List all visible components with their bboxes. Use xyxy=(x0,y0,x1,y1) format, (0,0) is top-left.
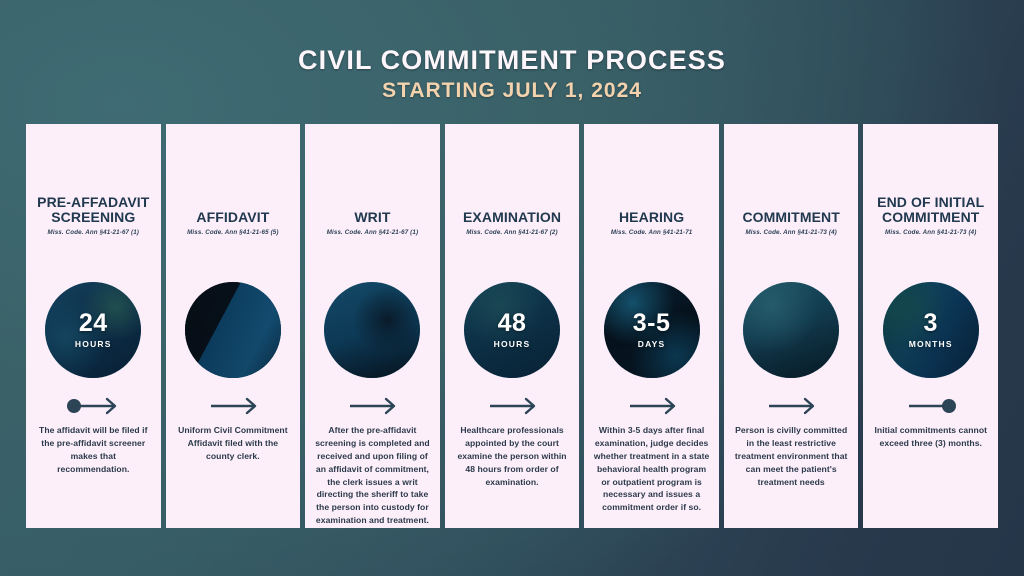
step-description-block: Person is civilly committed in the least… xyxy=(732,424,851,488)
step-heading-block: END OF INITIAL COMMITMENTMiss. Code. Ann… xyxy=(872,124,989,236)
step-description: Uniform Civil Commitment Affidavit filed… xyxy=(174,424,293,463)
process-step-card: END OF INITIAL COMMITMENTMiss. Code. Ann… xyxy=(863,124,998,528)
step-title: WRIT xyxy=(354,210,390,226)
duration-unit: MONTHS xyxy=(909,339,953,349)
step-description-block: Initial commitments cannot exceed three … xyxy=(871,424,990,450)
process-steps-row: PRE-AFFADAVIT SCREENINGMiss. Code. Ann §… xyxy=(26,124,998,528)
step-heading-block: COMMITMENTMiss. Code. Ann §41-21-73 (4) xyxy=(733,124,850,236)
duration-badge: 24HOURS xyxy=(45,282,141,378)
step-image-wrap: 3MONTHS xyxy=(883,282,979,378)
photo-tint-overlay xyxy=(743,282,839,378)
duration-value: 48 xyxy=(498,311,527,336)
step-image-wrap: 48HOURS xyxy=(464,282,560,378)
connector-dot-arrow-right-icon xyxy=(65,396,121,416)
step-heading-block: WRITMiss. Code. Ann §41-21-67 (1) xyxy=(314,124,431,236)
step-citation: Miss. Code. Ann §41-21-67 (1) xyxy=(48,229,139,236)
step-connector xyxy=(484,396,540,416)
step-title: HEARING xyxy=(619,210,684,226)
connector-arrow-right-icon xyxy=(624,396,680,416)
process-step-card: COMMITMENTMiss. Code. Ann §41-21-73 (4)P… xyxy=(724,124,859,528)
duration-value: 3-5 xyxy=(633,311,671,336)
photo-tint-overlay xyxy=(185,282,281,378)
duration-value: 3 xyxy=(924,311,938,336)
infographic-poster: CIVIL COMMITMENT PROCESS STARTING JULY 1… xyxy=(0,0,1024,576)
duration-badge: 48HOURS xyxy=(464,282,560,378)
step-description: Within 3-5 days after final examination,… xyxy=(592,424,711,514)
poster-header: CIVIL COMMITMENT PROCESS STARTING JULY 1… xyxy=(0,0,1024,102)
step-heading-block: EXAMINATIONMiss. Code. Ann §41-21-67 (2) xyxy=(454,124,571,236)
connector-arrow-right-icon xyxy=(763,396,819,416)
step-citation: Miss. Code. Ann §41-21-67 (1) xyxy=(327,229,418,236)
process-step-card: HEARINGMiss. Code. Ann §41-21-713-5DAYSW… xyxy=(584,124,719,528)
duration-unit: DAYS xyxy=(638,339,666,349)
step-connector xyxy=(344,396,400,416)
process-step-card: AFFIDAVITMiss. Code. Ann §41-21-65 (5)Un… xyxy=(166,124,301,528)
step-connector xyxy=(65,396,121,416)
step-description-block: Uniform Civil Commitment Affidavit filed… xyxy=(174,424,293,463)
clinic-photo: 24HOURS xyxy=(45,282,141,378)
duration-unit: HOURS xyxy=(494,339,531,349)
step-image-wrap: 3-5DAYS xyxy=(604,282,700,378)
step-description: Initial commitments cannot exceed three … xyxy=(871,424,990,450)
photo-tint-overlay xyxy=(324,282,420,378)
process-step-card: PRE-AFFADAVIT SCREENINGMiss. Code. Ann §… xyxy=(26,124,161,528)
step-description: After the pre-affidavit screening is com… xyxy=(313,424,432,527)
step-description: Person is civilly committed in the least… xyxy=(732,424,851,488)
step-heading-block: HEARINGMiss. Code. Ann §41-21-71 xyxy=(593,124,710,236)
medical-exam-photo: 48HOURS xyxy=(464,282,560,378)
signing-document-photo xyxy=(324,282,420,378)
step-connector xyxy=(763,396,819,416)
connector-line-dot-end-icon xyxy=(903,396,959,416)
connector-arrow-right-icon xyxy=(344,396,400,416)
page-subtitle: STARTING JULY 1, 2024 xyxy=(0,80,1024,102)
step-connector xyxy=(624,396,680,416)
step-citation: Miss. Code. Ann §41-21-73 (4) xyxy=(745,229,836,236)
step-connector xyxy=(205,396,261,416)
courtroom-photo: 3-5DAYS xyxy=(604,282,700,378)
process-step-card: WRITMiss. Code. Ann §41-21-67 (1)After t… xyxy=(305,124,440,528)
step-citation: Miss. Code. Ann §41-21-73 (4) xyxy=(885,229,976,236)
step-image-wrap: 24HOURS xyxy=(45,282,141,378)
step-image-wrap xyxy=(185,282,281,378)
step-citation: Miss. Code. Ann §41-21-67 (2) xyxy=(466,229,557,236)
step-description-block: Within 3-5 days after final examination,… xyxy=(592,424,711,514)
step-description-block: After the pre-affidavit screening is com… xyxy=(313,424,432,527)
step-heading-block: PRE-AFFADAVIT SCREENINGMiss. Code. Ann §… xyxy=(35,124,152,236)
duration-value: 24 xyxy=(79,311,108,336)
step-title: AFFIDAVIT xyxy=(196,210,269,226)
step-heading-block: AFFIDAVITMiss. Code. Ann §41-21-65 (5) xyxy=(175,124,292,236)
connector-arrow-right-icon xyxy=(484,396,540,416)
step-title: COMMITMENT xyxy=(742,210,839,226)
step-title: END OF INITIAL COMMITMENT xyxy=(872,195,989,226)
duration-badge: 3-5DAYS xyxy=(604,282,700,378)
process-step-card: EXAMINATIONMiss. Code. Ann §41-21-67 (2)… xyxy=(445,124,580,528)
step-citation: Miss. Code. Ann §41-21-65 (5) xyxy=(187,229,278,236)
helping-hands-photo: 3MONTHS xyxy=(883,282,979,378)
duration-unit: HOURS xyxy=(75,339,112,349)
step-title: PRE-AFFADAVIT SCREENING xyxy=(35,195,152,226)
step-title: EXAMINATION xyxy=(463,210,561,226)
affidavit-folder-photo xyxy=(185,282,281,378)
step-description: The affidavit will be filed if the pre-a… xyxy=(34,424,153,476)
step-description: Healthcare professionals appointed by th… xyxy=(453,424,572,488)
duration-badge: 3MONTHS xyxy=(883,282,979,378)
patient-room-photo xyxy=(743,282,839,378)
step-connector xyxy=(903,396,959,416)
step-citation: Miss. Code. Ann §41-21-71 xyxy=(611,229,693,236)
step-description-block: Healthcare professionals appointed by th… xyxy=(453,424,572,488)
step-image-wrap xyxy=(743,282,839,378)
page-title: CIVIL COMMITMENT PROCESS xyxy=(0,46,1024,74)
connector-arrow-right-icon xyxy=(205,396,261,416)
step-image-wrap xyxy=(324,282,420,378)
step-description-block: The affidavit will be filed if the pre-a… xyxy=(34,424,153,476)
